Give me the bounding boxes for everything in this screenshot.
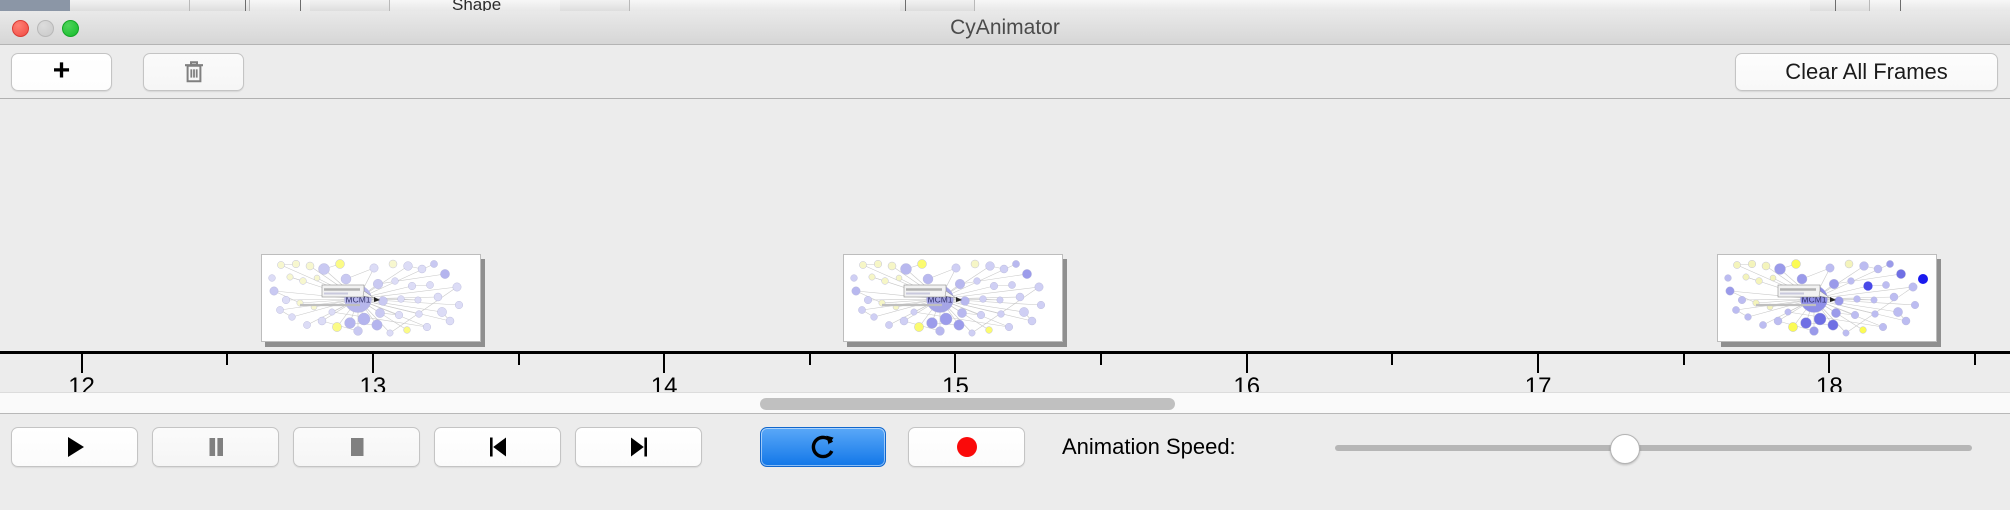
add-frame-button[interactable]: + xyxy=(11,53,112,91)
axis-tick-label: 15 xyxy=(942,373,969,392)
axis-tick-minor xyxy=(809,354,811,365)
axis-tick-label: 18 xyxy=(1816,373,1843,392)
axis-tick-label: 14 xyxy=(651,373,678,392)
axis-tick-minor xyxy=(1683,354,1685,365)
record-button[interactable] xyxy=(908,427,1025,467)
axis-tick-major xyxy=(1828,354,1830,373)
axis-tick-major xyxy=(1537,354,1539,373)
frame-thumbnail[interactable]: MCM1 xyxy=(1717,254,1941,347)
frame-toolbar: + Clear All Frames xyxy=(0,45,2010,99)
skip-next-icon xyxy=(626,434,652,460)
plus-icon: + xyxy=(53,56,71,86)
frame-thumbnail-image: MCM1 xyxy=(1717,254,1937,342)
play-icon xyxy=(63,434,87,460)
axis-tick-label: 12 xyxy=(68,373,95,392)
skip-previous-icon xyxy=(485,434,511,460)
axis-tick-label: 17 xyxy=(1525,373,1552,392)
stop-button[interactable] xyxy=(293,427,420,467)
animation-speed-slider-thumb[interactable] xyxy=(1610,434,1640,464)
cyanimator-window: CyAnimator + Clear All Frames MCM1MCM1MC… xyxy=(0,11,2010,510)
animation-speed-label: Animation Speed: xyxy=(1062,427,1236,467)
skip-next-button[interactable] xyxy=(575,427,702,467)
frame-thumbnail[interactable]: MCM1 xyxy=(261,254,485,347)
axis-tick-major xyxy=(663,354,665,373)
axis-tick-major xyxy=(81,354,83,373)
axis-tick-major xyxy=(372,354,374,373)
axis-tick-major xyxy=(1246,354,1248,373)
stop-icon xyxy=(345,434,369,460)
axis-tick-label: 16 xyxy=(1233,373,1260,392)
skip-previous-button[interactable] xyxy=(434,427,561,467)
timeline-axis-line xyxy=(0,351,2010,354)
axis-tick-major xyxy=(954,354,956,373)
frame-thumbnail[interactable]: MCM1 xyxy=(843,254,1067,347)
background-selected-tab xyxy=(0,0,70,11)
playback-control-bar: Animation Speed: xyxy=(0,414,2010,480)
clear-all-frames-button[interactable]: Clear All Frames xyxy=(1735,53,1998,91)
delete-frame-button[interactable] xyxy=(143,53,244,91)
timeline-track[interactable]: MCM1MCM1MCM1 12131415161718 Seconds xyxy=(0,99,2010,392)
loop-button[interactable] xyxy=(760,427,886,467)
axis-tick-minor xyxy=(1100,354,1102,365)
title-bar: CyAnimator xyxy=(0,11,2010,45)
frame-thumbnail-image: MCM1 xyxy=(261,254,481,342)
pause-button[interactable] xyxy=(152,427,279,467)
scrollbar-thumb[interactable] xyxy=(760,398,1175,410)
axis-tick-minor xyxy=(1391,354,1393,365)
axis-tick-minor xyxy=(518,354,520,365)
pause-icon xyxy=(204,434,228,460)
axis-tick-label: 13 xyxy=(360,373,387,392)
record-icon xyxy=(954,434,980,460)
trash-icon xyxy=(182,59,206,85)
axis-tick-minor xyxy=(226,354,228,365)
animation-speed-slider[interactable] xyxy=(1335,445,1972,451)
page-title: CyAnimator xyxy=(0,11,2010,45)
timeline-horizontal-scrollbar[interactable] xyxy=(0,392,2010,414)
loop-icon xyxy=(808,433,838,461)
axis-tick-minor xyxy=(1974,354,1976,365)
play-button[interactable] xyxy=(11,427,138,467)
frame-thumbnail-image: MCM1 xyxy=(843,254,1063,342)
clear-all-frames-label: Clear All Frames xyxy=(1785,59,1948,85)
